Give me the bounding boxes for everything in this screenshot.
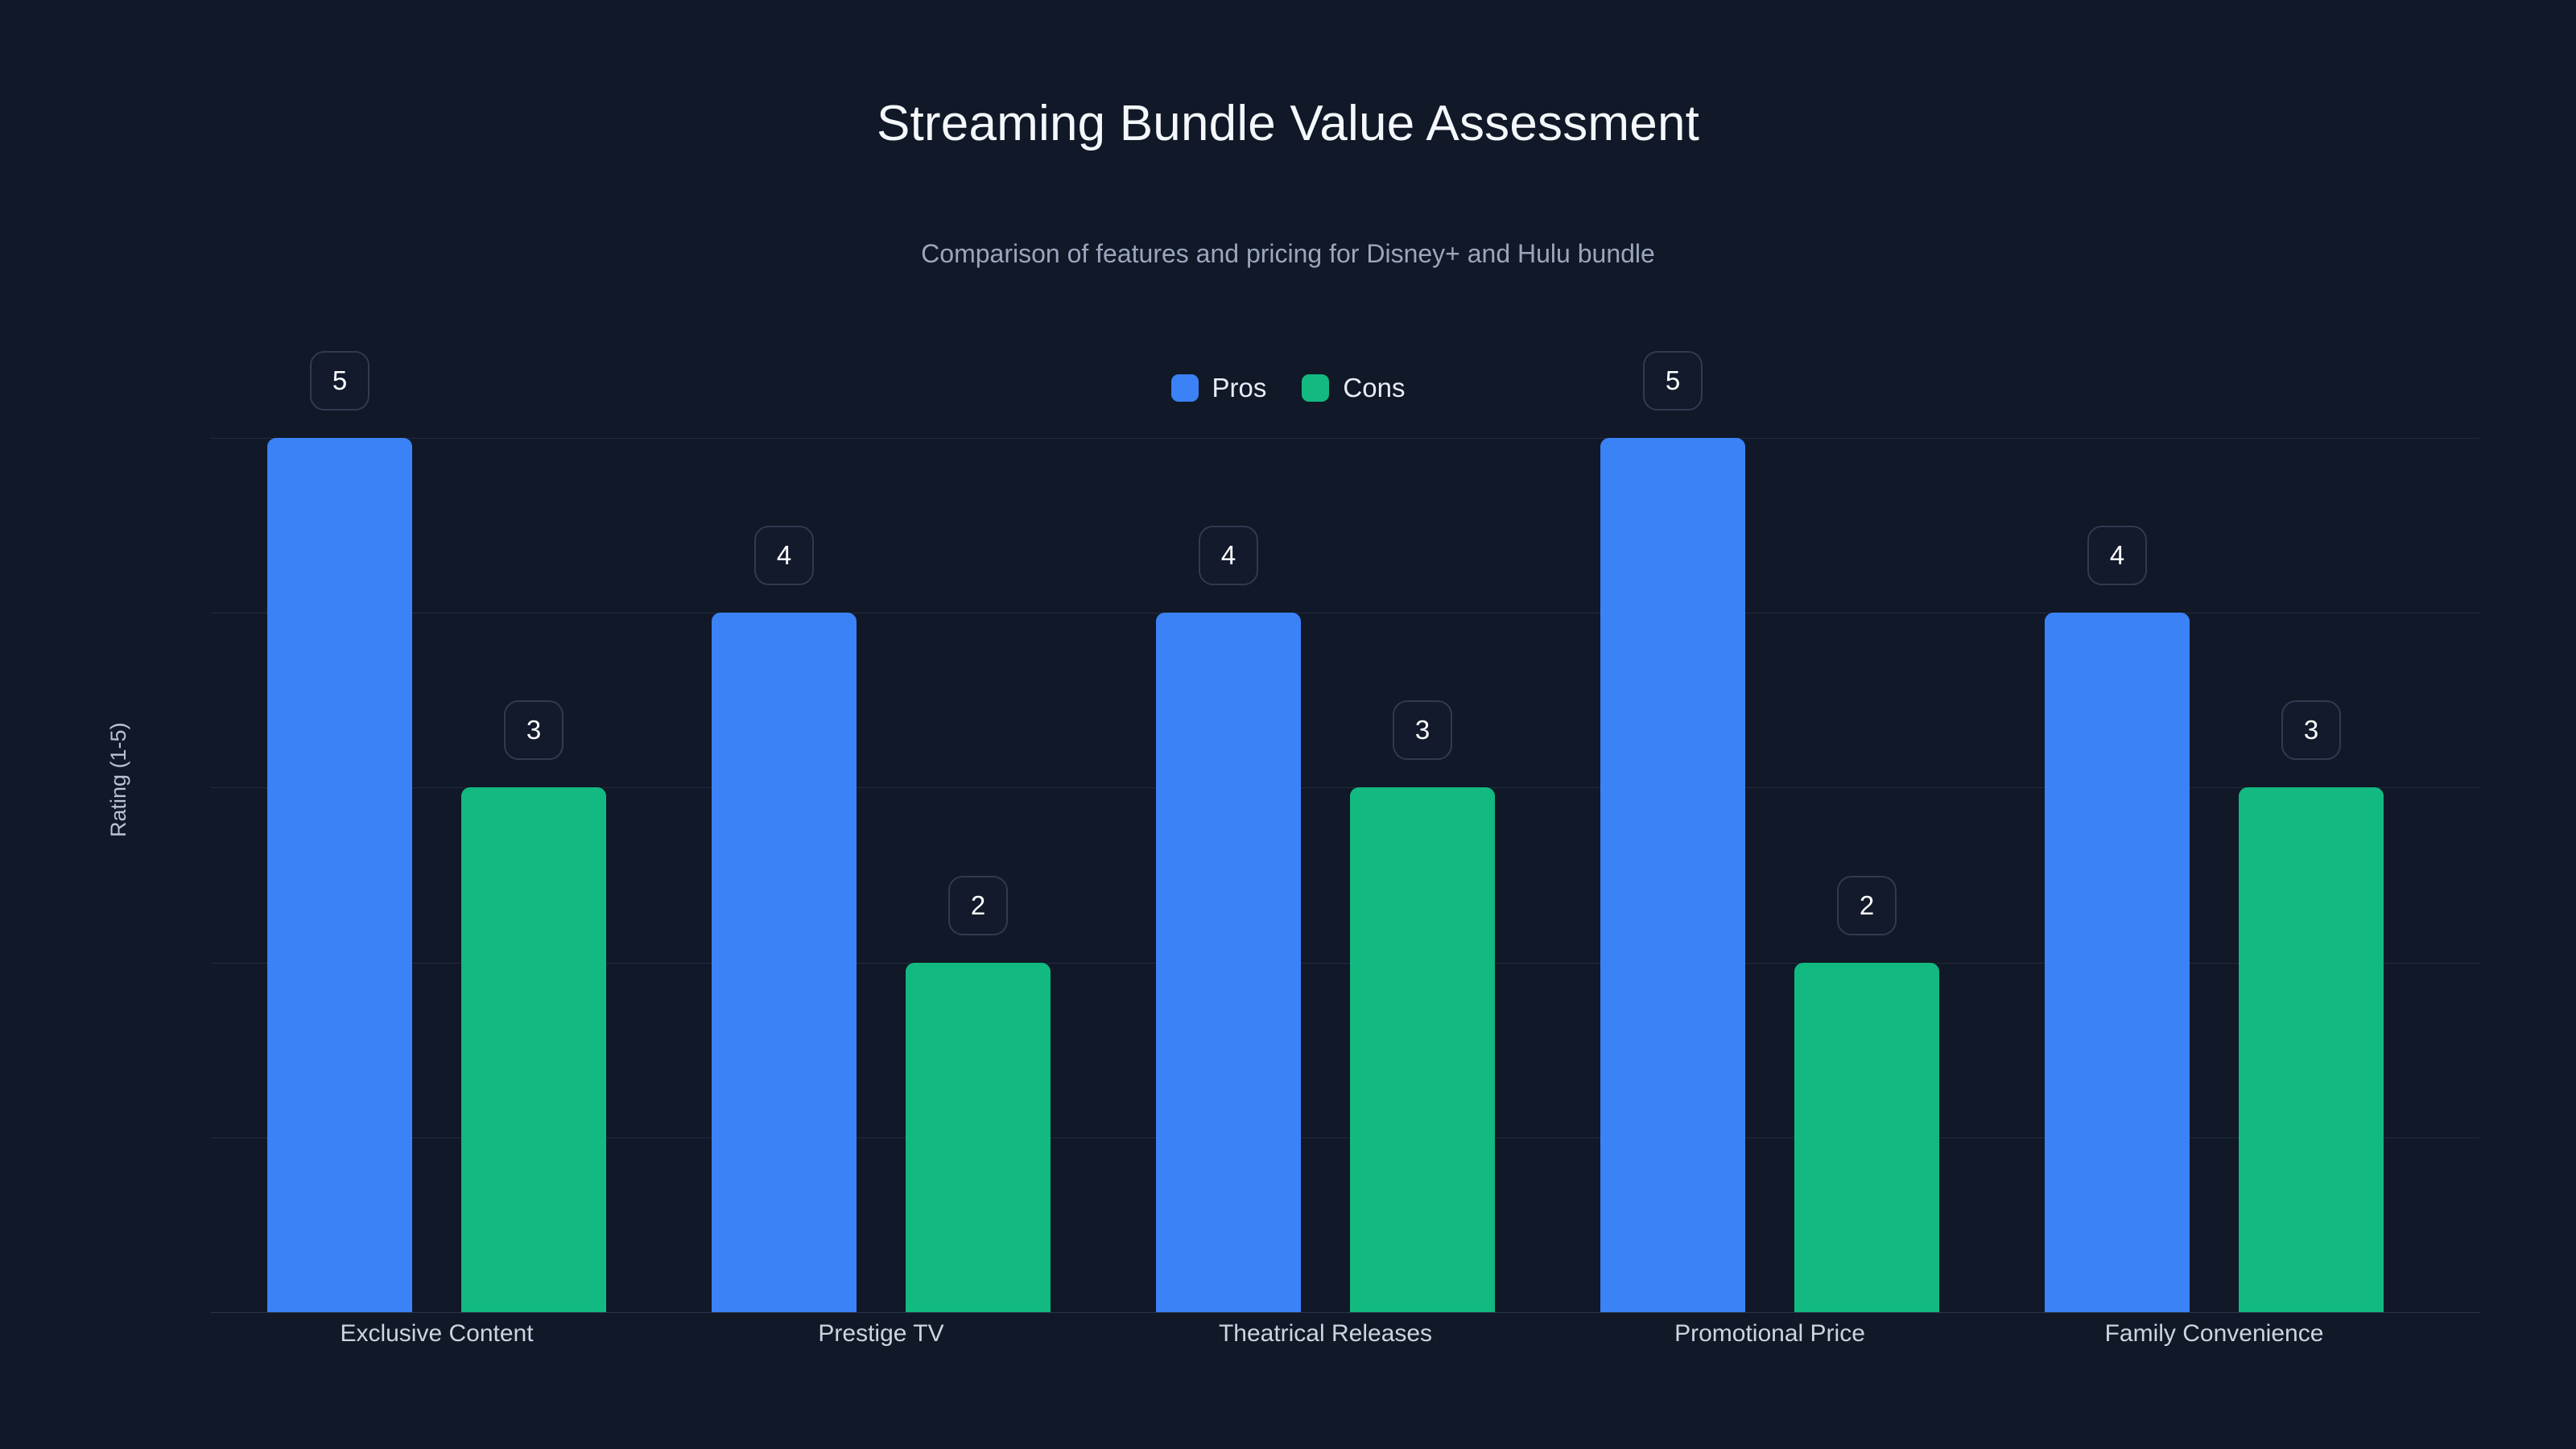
value-badge: 5 xyxy=(310,351,369,411)
value-badge: 2 xyxy=(1837,876,1897,935)
bar-pros-3[interactable] xyxy=(1600,438,1745,1312)
bar-pros-0[interactable] xyxy=(267,438,412,1312)
value-badge: 3 xyxy=(2281,700,2341,760)
legend-swatch-square xyxy=(1171,374,1199,402)
bar-pros-1[interactable] xyxy=(712,613,857,1312)
gridline-0 xyxy=(211,1312,2479,1313)
bar-cons-0[interactable] xyxy=(461,787,606,1312)
legend-item-pros[interactable]: Pros xyxy=(1171,373,1267,403)
value-badge: 3 xyxy=(504,700,563,760)
bars-layer: 5342435243 xyxy=(211,402,2479,1312)
x-tick-label: Theatrical Releases xyxy=(1084,1320,1567,1348)
x-tick-label: Prestige TV xyxy=(640,1320,1123,1348)
bar-pros-2[interactable] xyxy=(1156,613,1301,1312)
legend-label: Pros xyxy=(1212,373,1267,403)
bar-cons-2[interactable] xyxy=(1350,787,1495,1312)
legend-item-cons[interactable]: Cons xyxy=(1302,373,1405,403)
bar-pros-4[interactable] xyxy=(2045,613,2190,1312)
legend-swatch-square xyxy=(1302,374,1329,402)
y-axis-title: Rating (1-5) xyxy=(106,722,131,837)
bar-cons-1[interactable] xyxy=(906,963,1051,1312)
x-tick-label: Exclusive Content xyxy=(196,1320,679,1348)
value-badge: 4 xyxy=(2087,526,2147,585)
legend-label: Cons xyxy=(1343,373,1405,403)
x-axis-ticks: Exclusive ContentPrestige TVTheatrical R… xyxy=(211,1320,2479,1368)
chart-legend: ProsCons xyxy=(0,373,2576,403)
plot-area: 012345 5342435243 xyxy=(211,402,2479,1312)
value-badge: 5 xyxy=(1643,351,1703,411)
page-title: Streaming Bundle Value Assessment xyxy=(0,95,2576,152)
value-badge: 3 xyxy=(1393,700,1452,760)
value-badge: 4 xyxy=(754,526,814,585)
value-badge: 2 xyxy=(948,876,1008,935)
x-tick-label: Promotional Price xyxy=(1529,1320,2012,1348)
chart-page: Streaming Bundle Value Assessment Compar… xyxy=(0,0,2576,1449)
bar-cons-4[interactable] xyxy=(2239,787,2384,1312)
chart-subtitle: Comparison of features and pricing for D… xyxy=(0,239,2576,269)
bar-cons-3[interactable] xyxy=(1794,963,1939,1312)
x-tick-label: Family Convenience xyxy=(1973,1320,2456,1348)
value-badge: 4 xyxy=(1199,526,1258,585)
